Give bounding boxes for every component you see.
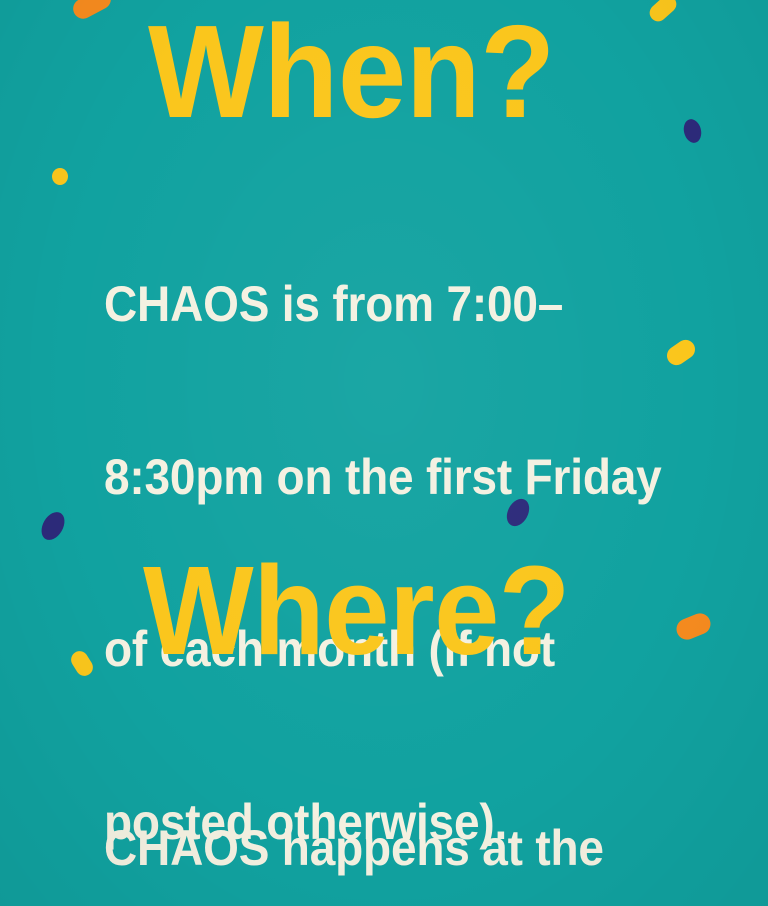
- when-heading: When?: [148, 6, 555, 138]
- when-body-line: 8:30pm on the first Friday: [104, 449, 662, 507]
- confetti-dot-yellow-left: [52, 168, 68, 185]
- confetti-oval-navy-left-mid: [37, 508, 69, 544]
- where-body-text: CHAOS happens at the church building at …: [104, 705, 675, 906]
- confetti-dash-yellow-top-right: [646, 0, 680, 25]
- confetti-dash-yellow-bottom-left: [68, 648, 96, 679]
- event-info-poster: When? CHAOS is from 7:00– 8:30pm on the …: [0, 0, 768, 906]
- when-body-line: CHAOS is from 7:00–: [104, 276, 662, 334]
- confetti-dash-orange-top-left: [70, 0, 115, 22]
- confetti-dash-yellow-right-mid: [663, 336, 698, 369]
- confetti-oval-navy-top-right: [681, 117, 703, 144]
- confetti-dash-orange-right: [673, 610, 713, 643]
- where-body-line: CHAOS happens at the: [104, 820, 675, 878]
- where-heading: Where?: [143, 548, 570, 674]
